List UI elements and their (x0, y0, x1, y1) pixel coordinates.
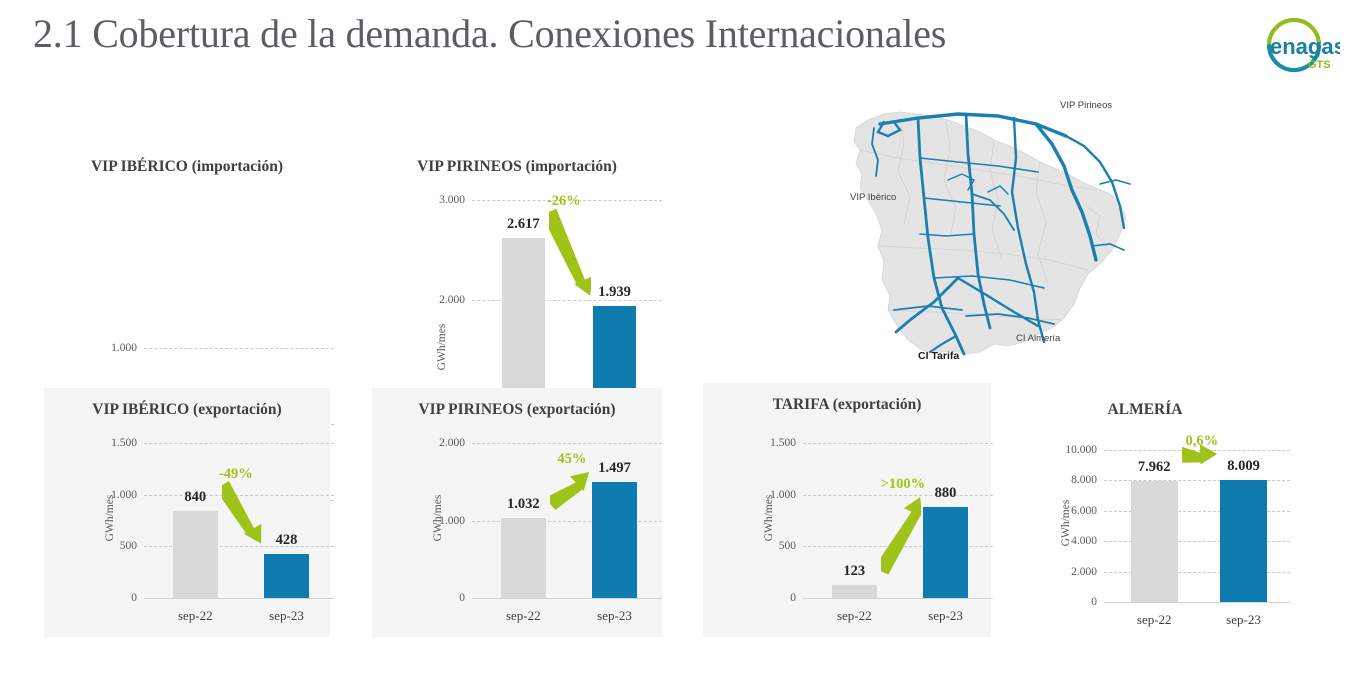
map-label-ci-tarifa: CI Tarifa (918, 350, 959, 362)
plot-area-vip-pirineos-exportacion: 01.0002.0001.032sep-221.497sep-2345% (472, 443, 662, 598)
trend-arrow-vip-pirineos-importacion (549, 195, 591, 313)
variation-label-vip-pirineos-importacion: -26% (547, 193, 581, 210)
chart-title-tarifa-exportacion: TARIFA (exportación) (703, 396, 991, 414)
y-tick-almeria-3: 6.000 (1071, 505, 1097, 517)
svg-text:enagas: enagas (1270, 34, 1340, 59)
chart-title-vip-pirineos-importacion: VIP PIRINEOS (importación) (372, 158, 662, 176)
y-tick-tarifa-exportacion-2: 1.000 (770, 489, 796, 501)
y-tick-almeria-1: 2.000 (1071, 566, 1097, 578)
page-title: 2.1 Cobertura de la demanda. Conexiones … (33, 10, 946, 57)
y-tick-almeria-2: 4.000 (1071, 535, 1097, 547)
bar-value-almeria-sep-22: 7.962 (1138, 459, 1171, 476)
bar-value-vip-iberico-exportacion-sep-22: 840 (184, 489, 206, 506)
y-tick-vip-iberico-exportacion-2: 1.000 (111, 489, 137, 501)
bar-almeria-sep-22 (1131, 481, 1178, 602)
y-tick-vip-pirineos-importacion-2: 2.000 (439, 294, 465, 306)
map-label-ci-almeria: CI Almería (1016, 333, 1060, 344)
y-tick-vip-pirineos-exportacion-1: 1.000 (439, 515, 465, 527)
x-tick-vip-pirineos-exportacion-1: sep-23 (597, 608, 632, 624)
y-tick-vip-pirineos-exportacion-2: 2.000 (439, 437, 465, 449)
plot-area-almeria: 02.0004.0006.0008.00010.0007.962sep-228.… (1104, 450, 1290, 602)
bar-vip-iberico-exportacion-sep-22 (173, 511, 218, 598)
bar-value-tarifa-exportacion-sep-22: 123 (843, 563, 865, 580)
y-tick-vip-iberico-exportacion-1: 500 (120, 540, 137, 552)
gridline-tarifa-exportacion-3 (803, 443, 993, 444)
bar-almeria-sep-23 (1220, 480, 1267, 602)
chart-vip-pirineos-exportacion: VIP PIRINEOS (exportación)GWh/mes01.0002… (372, 388, 662, 637)
bar-value-vip-iberico-exportacion-sep-23: 428 (276, 532, 298, 549)
chart-vip-iberico-exportacion: VIP IBÉRICO (exportación)GWh/mes05001.00… (44, 388, 330, 637)
chart-title-vip-pirineos-exportacion: VIP PIRINEOS (exportación) (372, 401, 662, 419)
y-tick-vip-iberico-exportacion-0: 0 (131, 592, 137, 604)
x-tick-vip-iberico-exportacion-1: sep-23 (269, 608, 304, 624)
chart-vip-iberico-importacion: VIP IBÉRICO (importación)GWh/mes05001.00… (44, 150, 330, 390)
spain-gas-network-map: VIP Pirineos VIP Ibérico CI Almería CI T… (838, 88, 1138, 378)
variation-label-tarifa-exportacion: >100% (881, 476, 926, 493)
variation-label-vip-pirineos-exportacion: 45% (557, 451, 586, 468)
y-tick-almeria-0: 0 (1091, 596, 1097, 608)
y-tick-vip-pirineos-exportacion-0: 0 (459, 592, 465, 604)
y-tick-almeria-5: 10.000 (1065, 444, 1097, 456)
gridline-vip-iberico-importacion-2 (144, 348, 334, 349)
x-tick-vip-iberico-exportacion-0: sep-22 (178, 608, 213, 624)
gridline-vip-iberico-exportacion-3 (144, 443, 334, 444)
chart-vip-pirineos-importacion: VIP PIRINEOS (importación)GWh/mes01.0002… (372, 150, 662, 390)
y-tick-tarifa-exportacion-0: 0 (790, 592, 796, 604)
axis-baseline-vip-pirineos-exportacion (472, 598, 662, 599)
variation-label-almeria: 0,6% (1186, 433, 1219, 450)
y-tick-almeria-4: 8.000 (1071, 474, 1097, 486)
bar-vip-pirineos-exportacion-sep-22 (501, 518, 546, 598)
chart-almeria: ALMERÍAGWh/mes02.0004.0006.0008.00010.00… (1000, 388, 1290, 637)
bar-value-tarifa-exportacion-sep-23: 880 (935, 485, 957, 502)
y-tick-tarifa-exportacion-3: 1.500 (770, 437, 796, 449)
chart-title-almeria: ALMERÍA (1000, 401, 1290, 419)
bar-tarifa-exportacion-sep-22 (832, 585, 877, 598)
x-tick-almeria-1: sep-23 (1226, 612, 1261, 628)
y-tick-vip-pirineos-importacion-3: 3.000 (439, 194, 465, 206)
y-tick-tarifa-exportacion-1: 500 (779, 540, 796, 552)
plot-area-vip-iberico-exportacion: 05001.0001.500840sep-22428sep-23-49% (144, 443, 334, 598)
y-tick-vip-iberico-exportacion-3: 1.500 (111, 437, 137, 449)
bar-value-almeria-sep-23: 8.009 (1227, 458, 1260, 475)
map-label-vip-iberico: VIP Ibérico (850, 192, 896, 203)
trend-arrow-tarifa-exportacion (881, 480, 921, 588)
variation-label-vip-iberico-exportacion: -49% (219, 466, 253, 483)
bar-value-vip-pirineos-exportacion-sep-23: 1.497 (598, 460, 631, 477)
plot-area-tarifa-exportacion: 05001.0001.500123sep-22880sep-23>100% (803, 443, 993, 598)
chart-title-vip-iberico-exportacion: VIP IBÉRICO (exportación) (44, 401, 330, 419)
map-label-vip-pirineos: VIP Pirineos (1060, 100, 1112, 111)
bar-vip-iberico-exportacion-sep-23 (264, 554, 309, 598)
bar-value-vip-pirineos-importacion-sep-23: 1.939 (598, 284, 631, 301)
y-axis-label-vip-pirineos-importacion: GWh/mes (436, 317, 448, 377)
axis-baseline-almeria (1104, 602, 1290, 603)
y-tick-vip-iberico-importacion-2: 1.000 (111, 342, 137, 354)
svg-text:GTS: GTS (1308, 59, 1331, 71)
x-tick-tarifa-exportacion-1: sep-23 (928, 608, 963, 624)
bar-value-vip-pirineos-importacion-sep-22: 2.617 (507, 216, 540, 233)
x-tick-vip-pirineos-exportacion-0: sep-22 (506, 608, 541, 624)
x-tick-almeria-0: sep-22 (1137, 612, 1172, 628)
bar-value-vip-pirineos-exportacion-sep-22: 1.032 (507, 496, 540, 513)
axis-baseline-vip-iberico-exportacion (144, 598, 334, 599)
bar-vip-pirineos-exportacion-sep-23 (592, 482, 637, 598)
axis-baseline-tarifa-exportacion (803, 598, 993, 599)
gridline-vip-pirineos-exportacion-2 (472, 443, 662, 444)
enagas-gts-logo: enagas GTS (1262, 14, 1340, 76)
chart-tarifa-exportacion: TARIFA (exportación)GWh/mes05001.0001.50… (703, 383, 991, 637)
bar-tarifa-exportacion-sep-23 (923, 507, 968, 598)
chart-title-vip-iberico-importacion: VIP IBÉRICO (importación) (44, 158, 330, 176)
x-tick-tarifa-exportacion-0: sep-22 (837, 608, 872, 624)
